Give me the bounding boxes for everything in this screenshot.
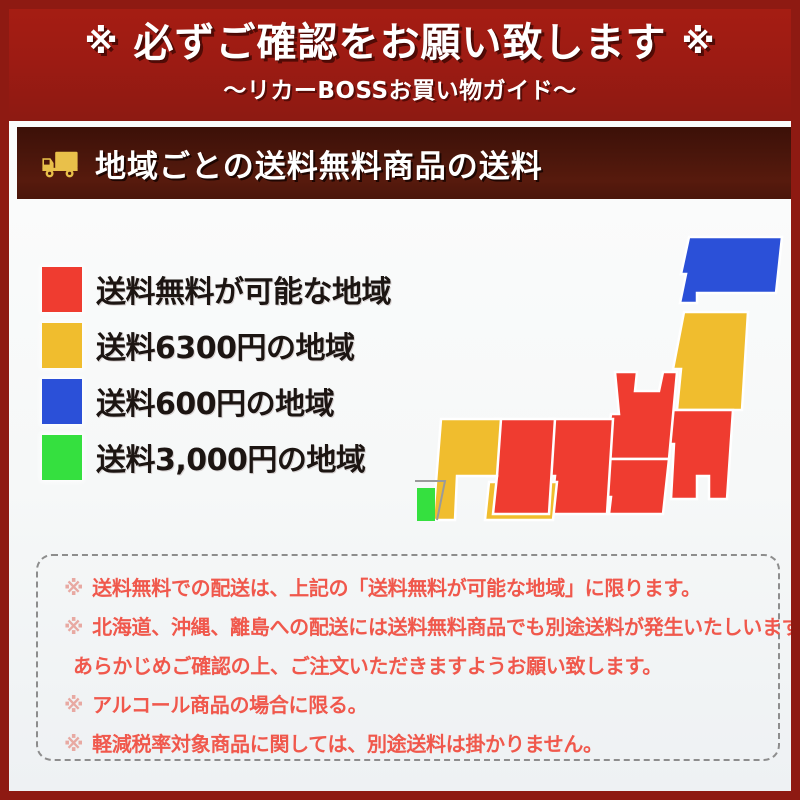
page-title: ※ 必ずご確認をお願い致します ※ [85,21,716,65]
note-item: ※ 送料無料での配送は、上記の「送料無料が可能な地域」に限ります。 [64,576,752,601]
note-text: 送料無料での配送は、上記の「送料無料が可能な地域」に限ります。 [92,576,752,601]
shipping-guide-banner: ※ 必ずご確認をお願い致します ※ 〜リカーBOSSお買い物ガイド〜 地域ごとの… [0,0,800,800]
japan-region-map [397,214,793,539]
note-mark-icon: ※ [64,732,83,757]
legend-item-600yen: 送料600円の地域 [42,373,432,429]
legend-label-600yen: 送料600円の地域 [96,379,334,423]
legend-item-300yen: 送料6300円の地域 [42,317,432,373]
page-title-text: 必ずご確認をお願い致します [134,20,667,66]
legend-swatch-600yen [42,379,82,424]
notes-box: ※ 送料無料での配送は、上記の「送料無料が可能な地域」に限ります。 ※ 北海道、… [36,554,780,761]
note-mark-icon: ※ [64,576,83,601]
delivery-truck-icon [39,147,81,179]
header-band: ※ 必ずご確認をお願い致します ※ 〜リカーBOSSお買い物ガイド〜 [9,9,791,121]
legend-label-free: 送料無料が可能な地域 [96,267,391,311]
map-region-tohoku [673,312,748,410]
map-region-okinawa [417,488,435,521]
legend-label-3000yen: 送料3,000円の地域 [96,435,365,479]
note-text: アルコール商品の場合に限る。 [92,693,752,718]
section-header-bar: 地域ごとの送料無料商品の送料 [17,127,791,199]
legend-swatch-free [42,267,82,312]
note-mark-icon: ※ [64,615,83,640]
section-title: 地域ごとの送料無料商品の送料 [95,141,543,186]
reference-mark-right-icon: ※ [681,22,715,62]
reference-mark-left-icon: ※ [85,22,119,62]
legend-item-free: 送料無料が可能な地域 [42,261,432,317]
note-item: あらかじめご確認の上、ご注文いただきますようお願い致します。 [64,654,752,679]
page-subtitle: 〜リカーBOSSお買い物ガイド〜 [223,71,576,105]
legend-label-300yen: 送料6300円の地域 [96,323,355,367]
note-item: ※ 北海道、沖縄、離島への配送には送料無料商品でも別途送料が発生いたしいます。 [64,615,752,640]
legend-swatch-300yen [42,323,82,368]
legend-swatch-3000yen [42,435,82,480]
map-region-hokkaido [680,237,782,303]
note-text: あらかじめご確認の上、ご注文いただきますようお願い致します。 [73,654,752,679]
map-region-chubu-north [605,372,677,459]
japan-map-svg [397,214,793,539]
legend: 送料無料が可能な地域 送料6300円の地域 送料600円の地域 送料3,000円… [42,261,432,485]
note-text: 軽減税率対象商品に関しては、別途送料は掛かりません。 [92,732,752,757]
note-mark-icon: ※ [64,693,83,718]
note-text: 北海道、沖縄、離島への配送には送料無料商品でも別途送料が発生いたしいます。 [92,615,800,640]
note-item: ※ 軽減税率対象商品に関しては、別途送料は掛かりません。 [64,732,752,757]
note-item: ※ アルコール商品の場合に限る。 [64,693,752,718]
legend-item-3000yen: 送料3,000円の地域 [42,429,432,485]
